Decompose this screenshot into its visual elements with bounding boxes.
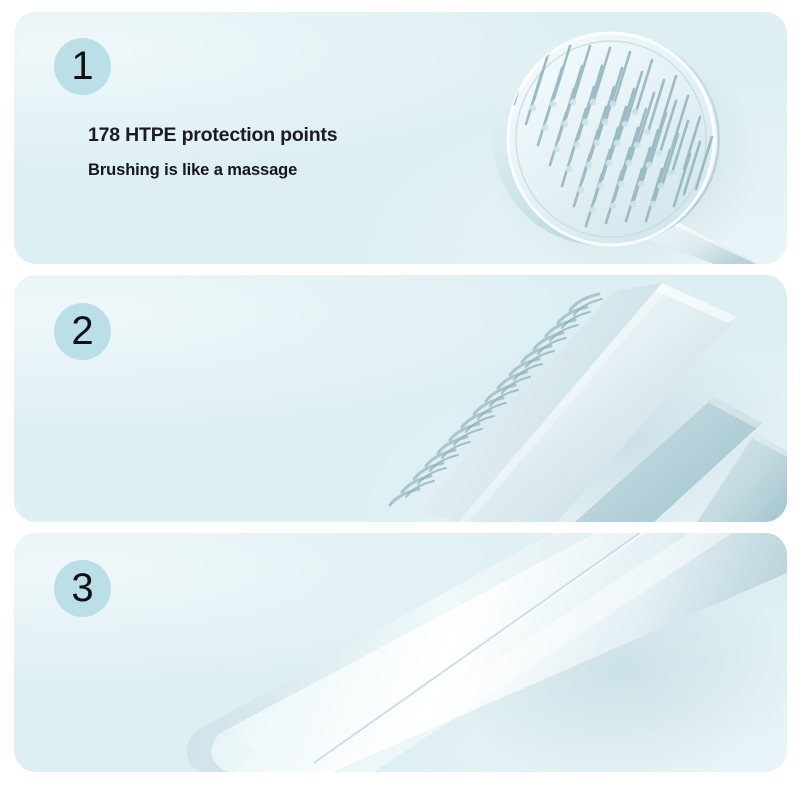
feature-headline-1: 178 HTPE protection points — [88, 124, 337, 147]
feature-subline-1: Brushing is like a massage — [88, 161, 337, 180]
step-badge-3: 3 — [54, 560, 111, 617]
angled-comb-teeth-photo — [14, 275, 787, 522]
feature-text-1: 178 HTPE protection points Brushing is l… — [88, 124, 337, 180]
card-gradient-overlay — [14, 275, 787, 522]
feature-card-1: 178 HTPE protection points Brushing is l… — [14, 12, 787, 264]
step-number-2: 2 — [71, 311, 93, 351]
feature-card-3: Rounded and comfortable handle Combing h… — [14, 533, 787, 772]
product-feature-infographic: 178 HTPE protection points Brushing is l… — [0, 0, 800, 800]
rounded-handle-photo — [14, 533, 787, 772]
step-number-3: 3 — [71, 568, 93, 608]
step-badge-1: 1 — [54, 38, 111, 95]
card-gradient-overlay — [14, 533, 787, 772]
step-number-1: 1 — [71, 46, 93, 86]
step-badge-2: 2 — [54, 303, 111, 360]
feature-card-2: 140°curved comb teeth Anti-static better… — [14, 275, 787, 522]
